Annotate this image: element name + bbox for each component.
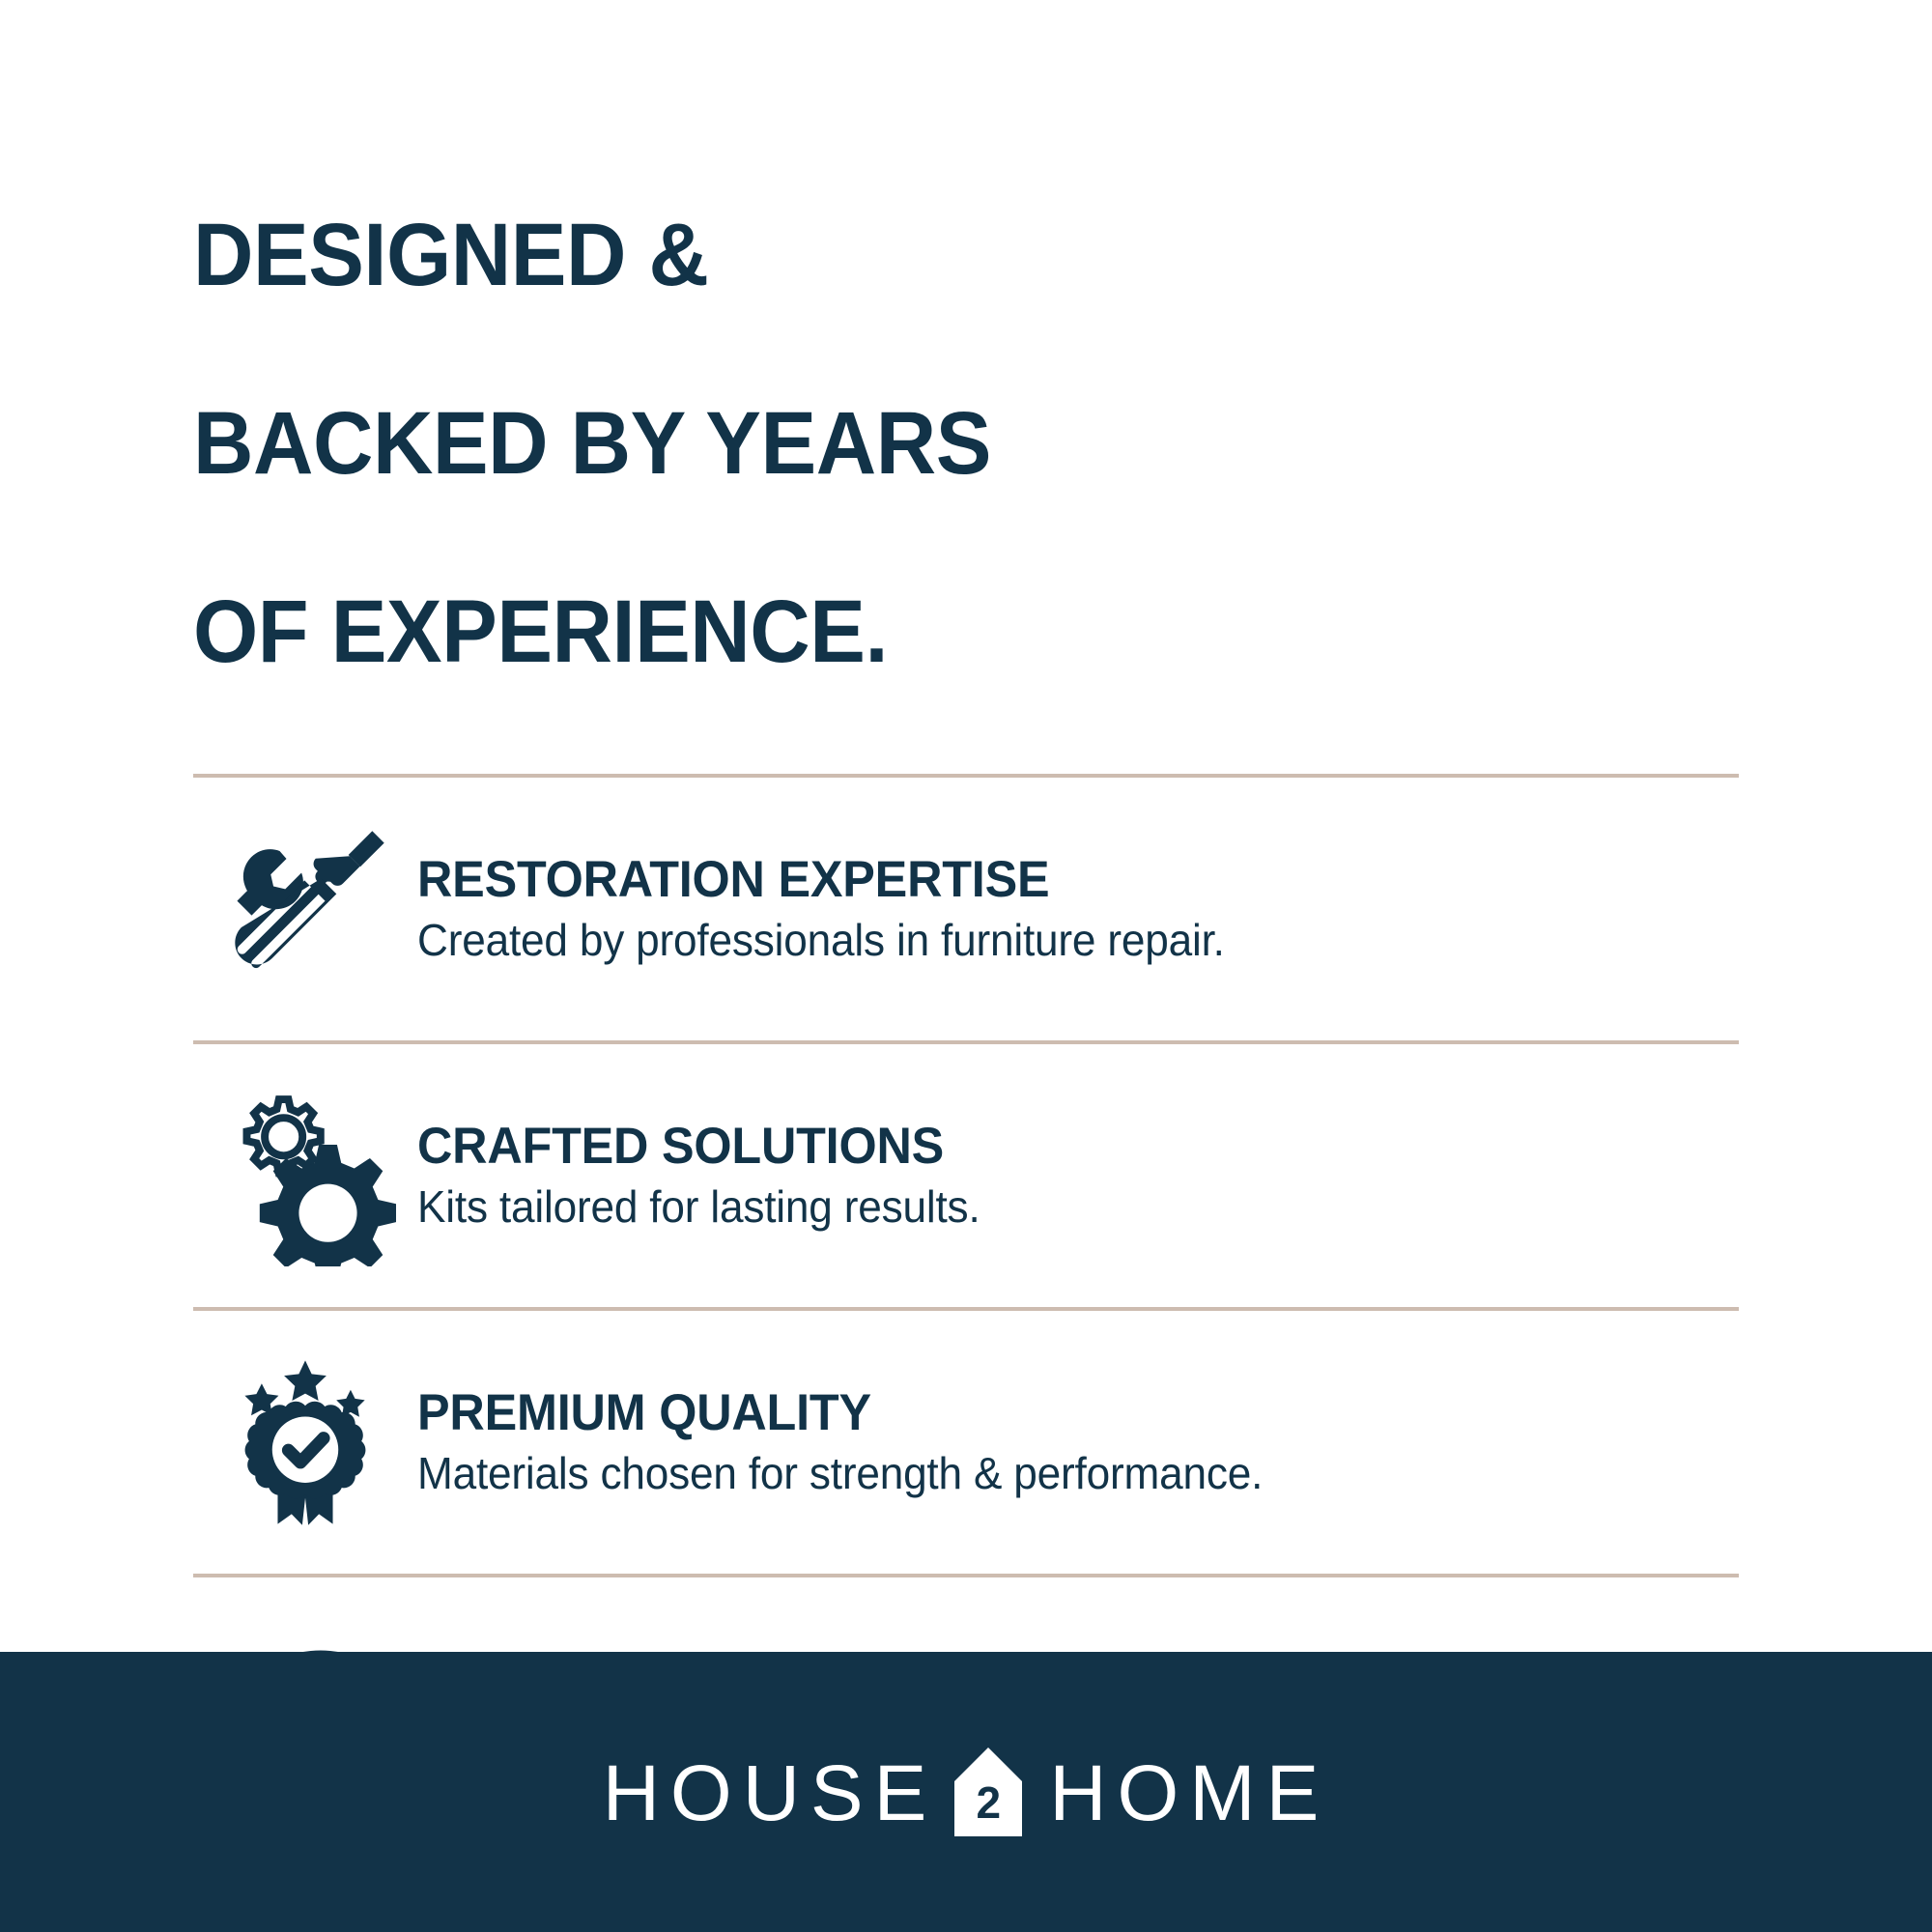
logo-word-home: HOME [1049, 1750, 1329, 1833]
feature-description: Materials chosen for strength & performa… [417, 1448, 1263, 1499]
brand-logo: HOUSE 2 HOME [603, 1744, 1330, 1840]
feature-description: Created by professionals in furniture re… [417, 915, 1225, 966]
wrench-screwdriver-icon [193, 817, 417, 1001]
headline-line-2: BACKED BY YEARS [193, 397, 1828, 492]
feature-text-restoration-expertise: RESTORATION EXPERTISE Created by profess… [417, 851, 1259, 965]
headline-line-1: DESIGNED & [193, 209, 1828, 303]
feature-row-premium-quality: PREMIUM QUALITY Materials chosen for str… [193, 1311, 1739, 1574]
infographic-poster: DESIGNED & BACKED BY YEARS OF EXPERIENCE… [0, 0, 1932, 1932]
feature-text-premium-quality: PREMIUM QUALITY Materials chosen for str… [417, 1384, 1298, 1498]
logo-word-house: HOUSE [603, 1750, 938, 1833]
feature-row-crafted-solutions: CRAFTED SOLUTIONS Kits tailored for last… [193, 1044, 1739, 1307]
quality-badge-icon [193, 1353, 417, 1531]
feature-row-restoration-expertise: RESTORATION EXPERTISE Created by profess… [193, 778, 1739, 1040]
headline-line-3: OF EXPERIENCE. [193, 585, 1828, 680]
feature-description: Kits tailored for lasting results. [417, 1181, 980, 1233]
gears-icon [193, 1085, 417, 1266]
feature-title: CRAFTED SOLUTIONS [417, 1118, 974, 1175]
headline-block: DESIGNED & BACKED BY YEARS OF EXPERIENCE… [0, 0, 1932, 774]
feature-text-crafted-solutions: CRAFTED SOLUTIONS Kits tailored for last… [417, 1118, 1004, 1232]
feature-title: RESTORATION EXPERTISE [417, 851, 1216, 908]
footer-brand-bar: HOUSE 2 HOME [0, 1652, 1932, 1932]
page-title: DESIGNED & BACKED BY YEARS OF EXPERIENCE… [193, 114, 1828, 774]
feature-title: PREMIUM QUALITY [417, 1384, 1254, 1441]
house-icon: 2 [951, 1744, 1026, 1840]
logo-mark-number: 2 [951, 1780, 1026, 1825]
